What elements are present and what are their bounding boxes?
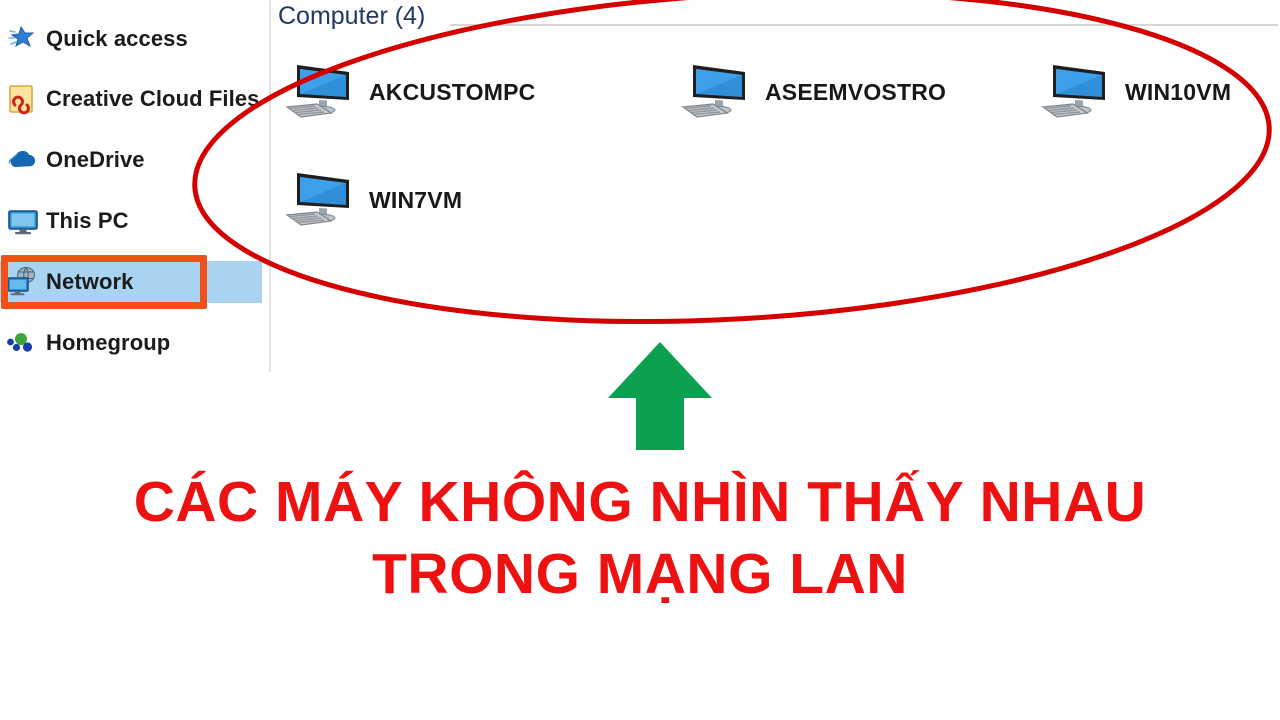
sidebar-item-label: OneDrive [46,147,145,173]
sidebar-item-label: Network [46,269,134,295]
content-pane: Computer (4) [271,0,1280,372]
sidebar-item-this-pc[interactable]: This PC [0,200,262,242]
sidebar-item-label: Creative Cloud Files [46,86,260,112]
list-item[interactable]: WIN10VM [1039,55,1231,129]
computer-name: WIN7VM [369,187,462,214]
navigation-pane: Quick access Creative Cloud Files OneDri… [0,0,270,372]
computer-icon [283,163,357,237]
sidebar-item-network[interactable]: Network [0,261,262,303]
list-item[interactable]: AKCUSTOMPC [283,55,535,129]
cloud-icon [6,143,40,177]
green-up-arrow-icon [604,336,716,454]
list-item[interactable]: WIN7VM [283,163,462,237]
computer-icon [1039,55,1113,129]
sidebar-item-creative-cloud-files[interactable]: Creative Cloud Files [0,78,262,120]
caption-line-1: CÁC MÁY KHÔNG NHÌN THẤY NHAU [0,466,1280,538]
sidebar-item-onedrive[interactable]: OneDrive [0,139,262,181]
sidebar-item-label: Homegroup [46,330,170,356]
group-header-computer: Computer (4) [278,2,425,31]
file-explorer-window: Quick access Creative Cloud Files OneDri… [0,0,1280,372]
sidebar-item-label: Quick access [46,26,188,52]
group-header-rule [450,24,1278,26]
computer-icon [679,55,753,129]
monitor-icon [6,204,40,238]
caption-line-2: TRONG MẠNG LAN [0,538,1280,610]
sidebar-item-homegroup[interactable]: Homegroup [0,322,262,364]
computer-name: AKCUSTOMPC [369,79,535,106]
star-icon [6,22,40,56]
network-icon [6,265,40,299]
sidebar-item-label: This PC [46,208,129,234]
caption-block: CÁC MÁY KHÔNG NHÌN THẤY NHAU TRONG MẠNG … [0,466,1280,610]
computer-icon [283,55,357,129]
creative-cloud-icon [6,82,40,116]
list-item[interactable]: ASEEMVOSTRO [679,55,946,129]
computer-name: ASEEMVOSTRO [765,79,946,106]
homegroup-icon [6,326,40,360]
computer-name: WIN10VM [1125,79,1231,106]
sidebar-item-quick-access[interactable]: Quick access [0,18,262,60]
